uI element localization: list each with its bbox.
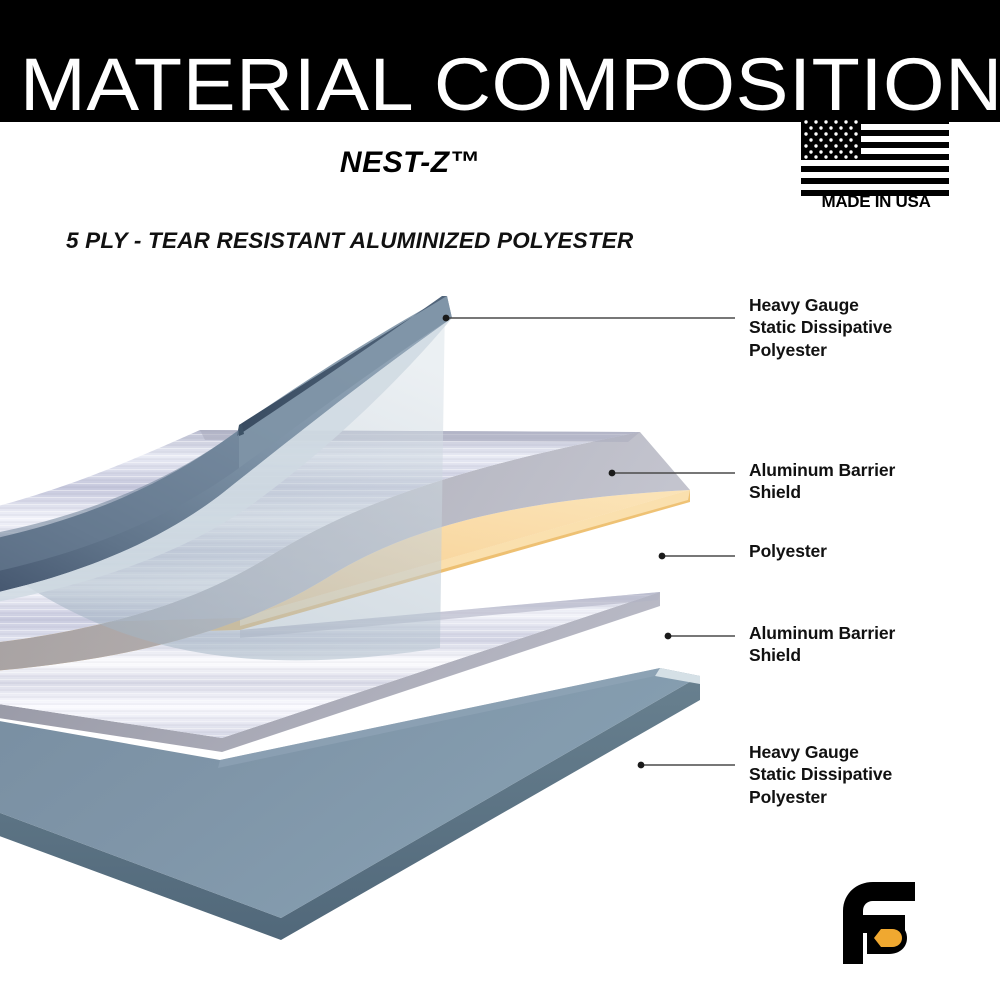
fb-brand-logo — [843, 882, 929, 964]
callout-layer-5: Heavy Gauge Static Dissipative Polyester — [749, 741, 892, 808]
callout-layer-4: Aluminum Barrier Shield — [749, 622, 895, 667]
callout-layer-1: Heavy Gauge Static Dissipative Polyester — [749, 294, 892, 361]
callout-layer-3: Polyester — [749, 540, 827, 562]
material-composition-infographic: MATERIAL COMPOSITION NEST-Z™ — [0, 0, 1000, 1000]
callout-layer-2: Aluminum Barrier Shield — [749, 459, 895, 504]
diagram-layer-heavy-gauge-static-dissipative-polyester-top — [0, 296, 452, 660]
